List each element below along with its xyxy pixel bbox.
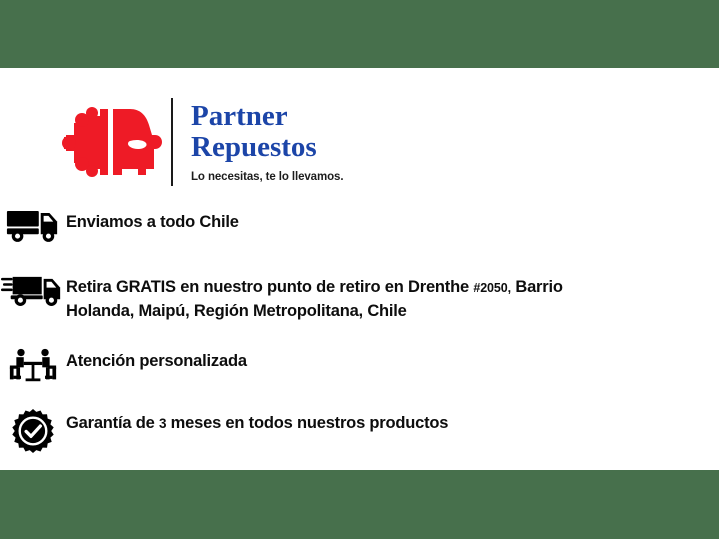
brand-name-line-1: Partner: [191, 101, 343, 132]
feature-row-pickup: Retira GRATIS en nuestro punto de retiro…: [0, 271, 719, 323]
feature-row-warranty: Garantía de 3 meses en todos nuestros pr…: [0, 407, 719, 453]
bottom-green-band: [0, 470, 719, 539]
feature-text-pickup: Retira GRATIS en nuestro punto de retiro…: [66, 271, 606, 323]
warranty-text-after: meses en todos nuestros productos: [166, 414, 448, 432]
gear-car-logo-icon: [60, 101, 164, 183]
feature-text-service: Atención personalizada: [66, 345, 247, 373]
logo-divider: [171, 98, 173, 186]
feature-text-warranty: Garantía de 3 meses en todos nuestros pr…: [66, 407, 448, 435]
feature-list: Enviamos a todo Chile: [0, 206, 719, 453]
promo-banner: Partner Repuestos Lo necesitas, te lo ll…: [0, 0, 719, 539]
top-green-band: [0, 0, 719, 68]
brand-tagline: Lo necesitas, te lo llevamos.: [191, 170, 343, 184]
fast-truck-icon: [0, 271, 66, 308]
brand-logo: Partner Repuestos Lo necesitas, te lo ll…: [60, 92, 343, 192]
pickup-street-number: #2050,: [473, 281, 511, 295]
brand-name-line-2: Repuestos: [191, 132, 343, 163]
feature-text-shipping: Enviamos a todo Chile: [66, 206, 239, 234]
brand-wordmark: Partner Repuestos Lo necesitas, te lo ll…: [191, 101, 343, 184]
delivery-truck-icon: [0, 206, 66, 243]
feature-row-shipping: Enviamos a todo Chile: [0, 206, 719, 246]
pickup-text-before: Retira GRATIS en nuestro punto de retiro…: [66, 278, 473, 296]
guarantee-badge-icon: [0, 407, 66, 453]
feature-row-service: Atención personalizada: [0, 345, 719, 385]
people-at-table-icon: [0, 345, 66, 384]
warranty-text-before: Garantía de: [66, 414, 159, 432]
